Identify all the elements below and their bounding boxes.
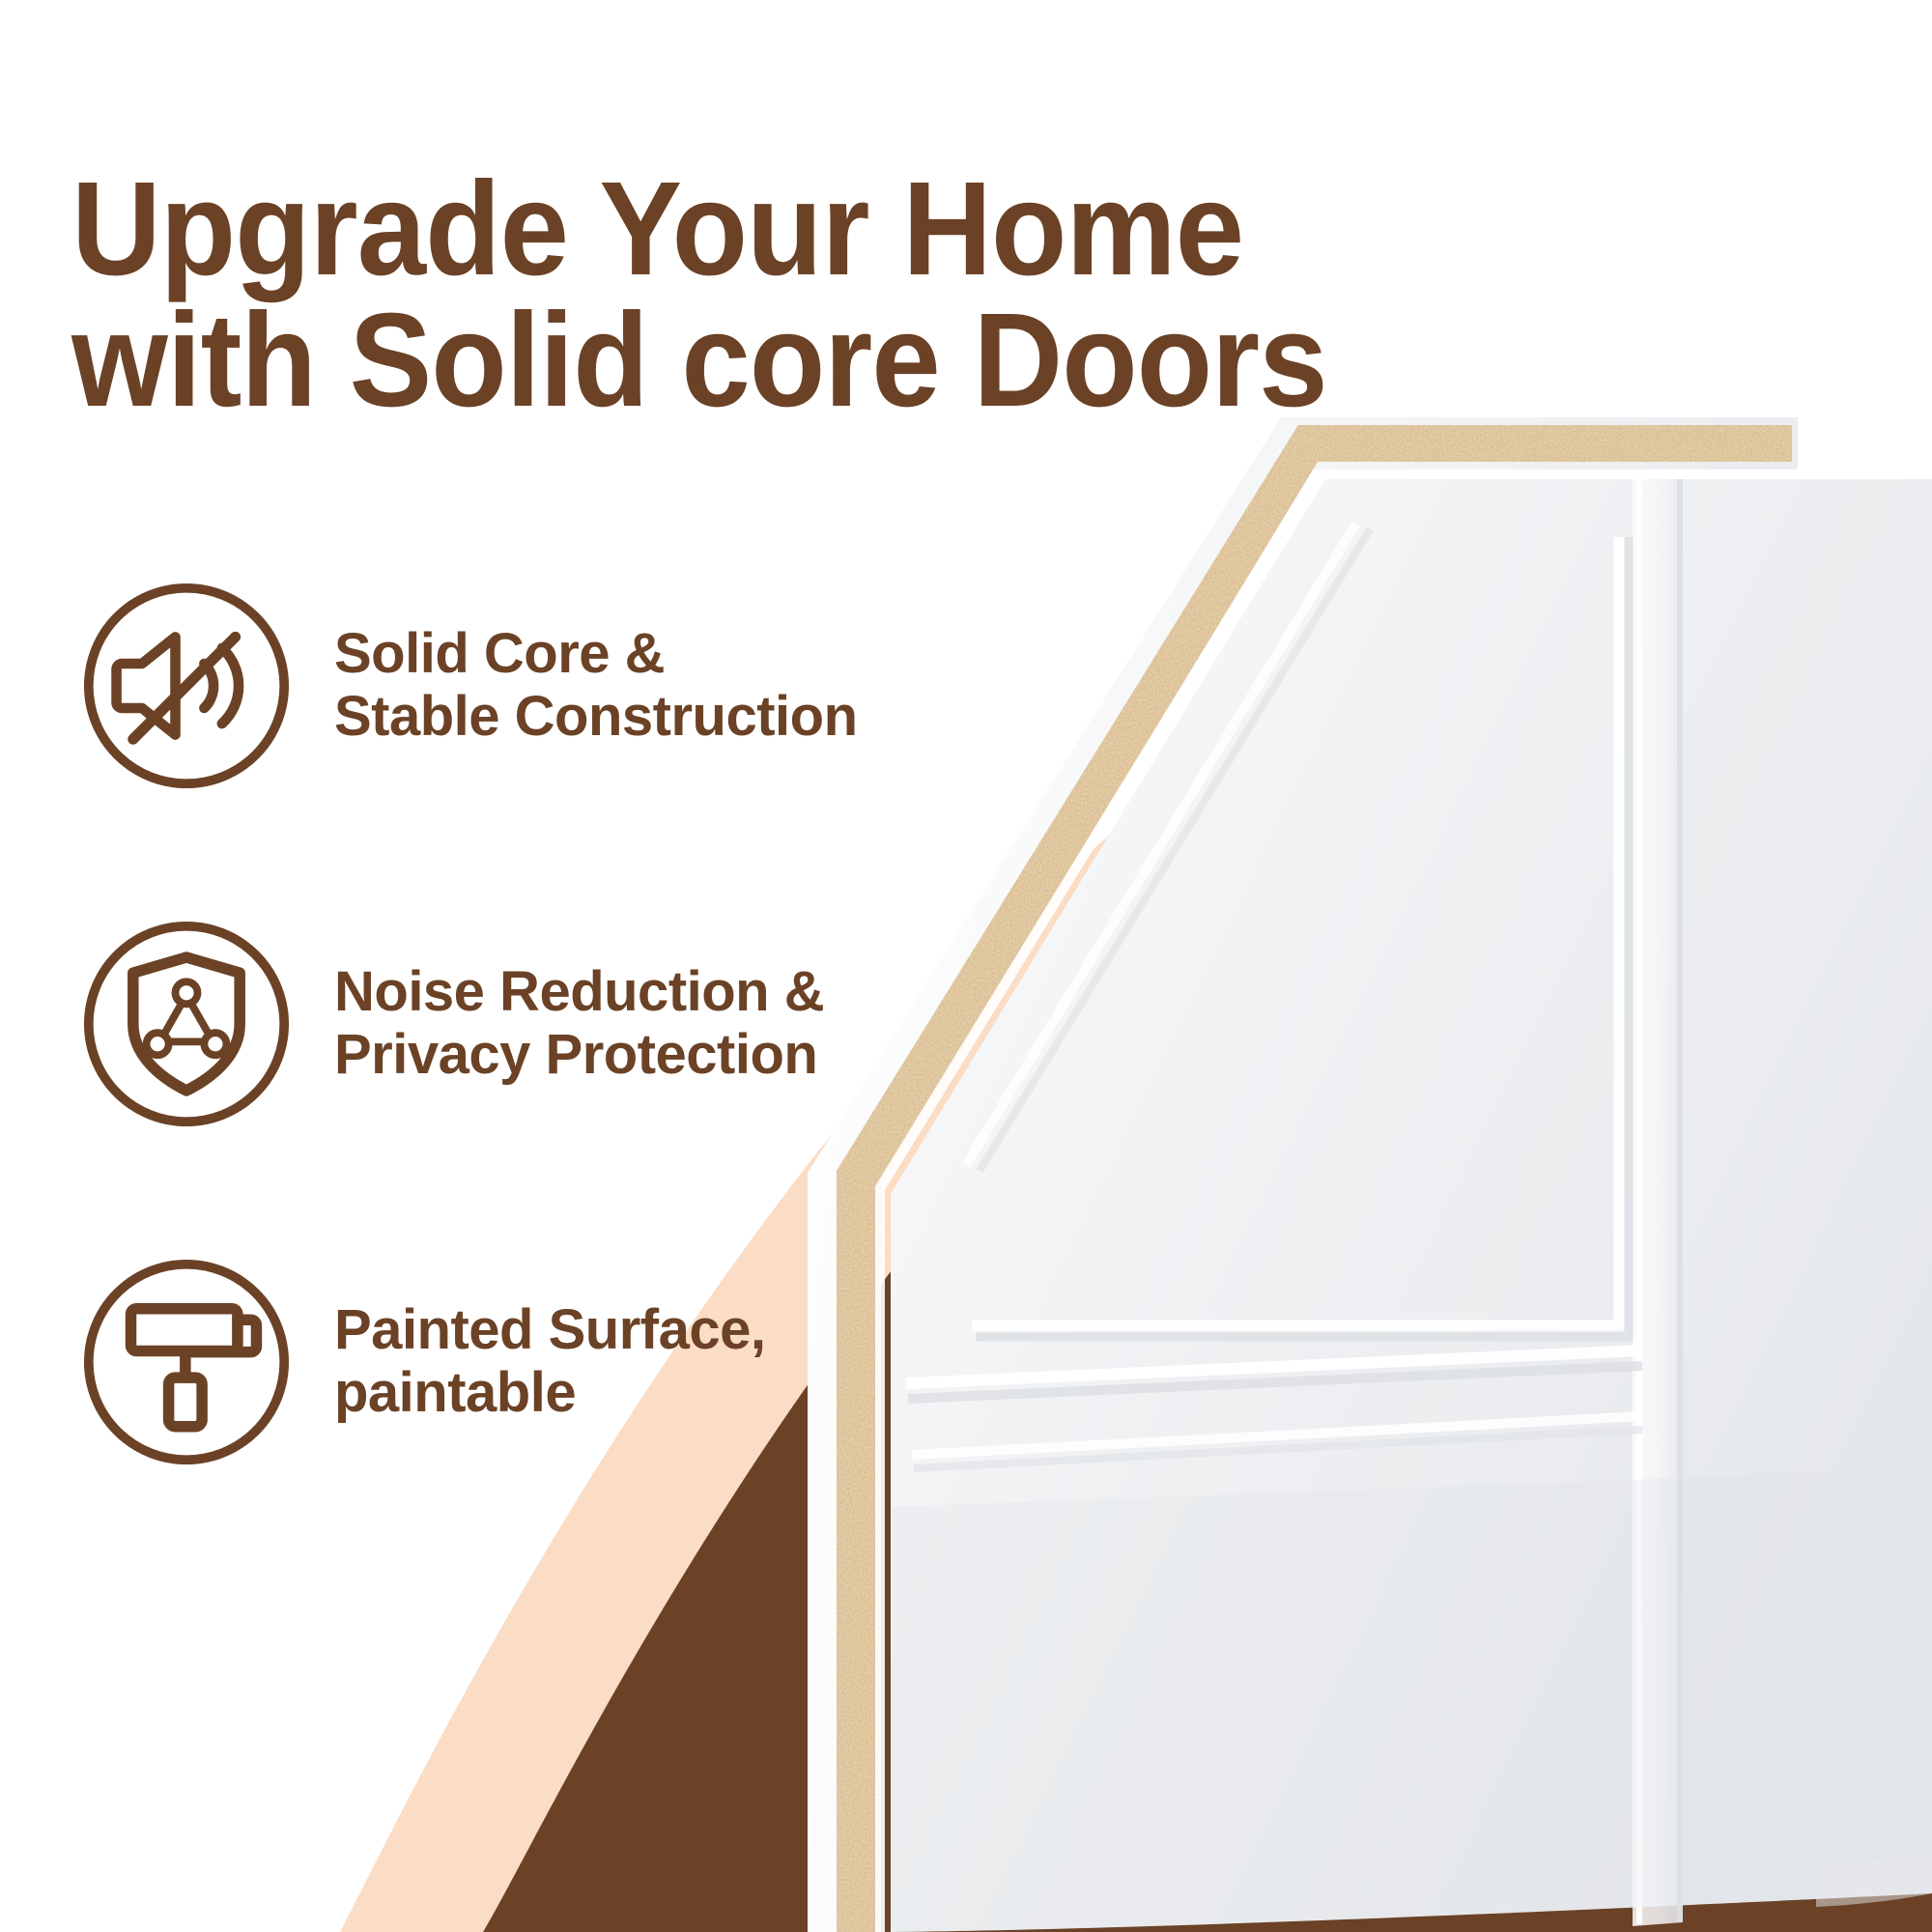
feature-item-noise-reduction: Noise Reduction & Privacy Protection — [75, 898, 1138, 1150]
headline-line-2: with Solid core Doors — [71, 296, 1327, 426]
feature-item-painted-surface: Painted Surface, paintable — [75, 1236, 1138, 1488]
feature-label-painted-surface: Painted Surface, paintable — [334, 1299, 765, 1425]
page-title: Upgrade Your Home with Solid core Doors — [71, 164, 1421, 425]
muted-speaker-icon — [75, 575, 298, 797]
feature-label-solid-core: Solid Core & Stable Construction — [334, 623, 858, 749]
feature-label-noise-reduction: Noise Reduction & Privacy Protection — [334, 961, 824, 1087]
headline-line-1: Upgrade Your Home — [71, 164, 1327, 295]
feature-label-line-2: Privacy Protection — [334, 1024, 824, 1087]
feature-label-line-2: Stable Construction — [334, 686, 858, 749]
feature-list: Solid Core & Stable Construction Noise R… — [75, 560, 1138, 1575]
feature-label-line-2: paintable — [334, 1362, 765, 1425]
feature-label-line-1: Painted Surface, — [334, 1299, 765, 1362]
infographic-poster: Upgrade Your Home with Solid core Doors … — [0, 0, 1932, 1932]
feature-item-solid-core: Solid Core & Stable Construction — [75, 560, 1138, 811]
feature-label-line-1: Noise Reduction & — [334, 961, 824, 1024]
feature-label-line-1: Solid Core & — [334, 623, 858, 686]
paint-roller-icon — [75, 1251, 298, 1473]
shield-network-icon — [75, 913, 298, 1135]
